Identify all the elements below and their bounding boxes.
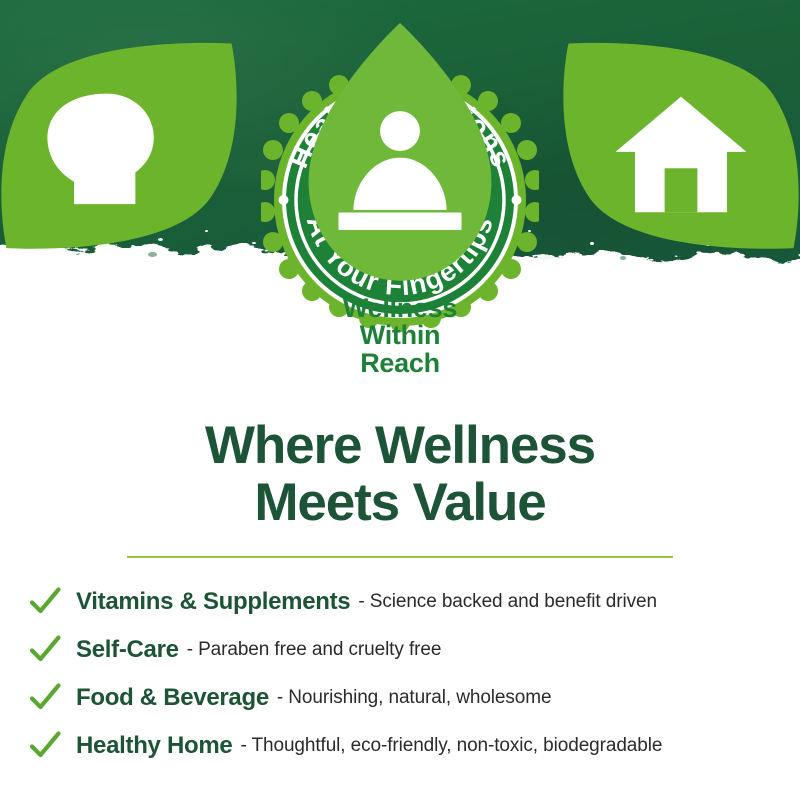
badge-center-content: Wellness Within Reach	[261, 67, 539, 333]
leaf-head-icon	[0, 23, 258, 289]
leaf-meditation-icon	[261, 23, 539, 289]
list-item: Food & Beverage - Nourishing, natural, w…	[0, 674, 800, 722]
checkmark-icon	[28, 585, 62, 619]
list-item-title: Food & Beverage	[76, 684, 269, 712]
badge-center-line1: Wellness	[343, 295, 457, 323]
promo-banner: Healthier Options At Your Fingertips	[0, 0, 800, 800]
list-item-desc: - Science backed and benefit driven	[358, 591, 657, 613]
page-title-line2: Meets Value	[0, 475, 800, 532]
divider-rule	[127, 556, 673, 558]
list-item-title: Healthy Home	[76, 732, 232, 760]
badge-center-line2: Within	[343, 322, 457, 350]
list-item-desc: - Thoughtful, eco-friendly, non-toxic, b…	[240, 735, 662, 757]
list-item: Healthy Home - Thoughtful, eco-friendly,…	[0, 722, 800, 770]
list-item-desc: - Paraben free and cruelty free	[187, 639, 442, 661]
list-item-title: Vitamins & Supplements	[76, 588, 350, 616]
page-title: Where Wellness Meets Value	[0, 418, 800, 531]
leaf-house-icon	[542, 23, 800, 289]
checkmark-icon	[28, 681, 62, 715]
badge-center-text: Wellness Within Reach	[343, 295, 457, 378]
wellness-badge: Healthier Options At Your Fingertips	[261, 67, 539, 333]
benefits-list: Vitamins & Supplements - Science backed …	[0, 578, 800, 770]
checkmark-icon	[28, 729, 62, 763]
list-item: Self-Care - Paraben free and cruelty fre…	[0, 626, 800, 674]
page-title-line1: Where Wellness	[0, 418, 800, 475]
list-item: Vitamins & Supplements - Science backed …	[0, 578, 800, 626]
list-item-desc: - Nourishing, natural, wholesome	[277, 687, 552, 709]
list-item-title: Self-Care	[76, 636, 179, 664]
badge-center-line3: Reach	[343, 350, 457, 378]
checkmark-icon	[28, 633, 62, 667]
badge-icon-row	[0, 23, 800, 289]
